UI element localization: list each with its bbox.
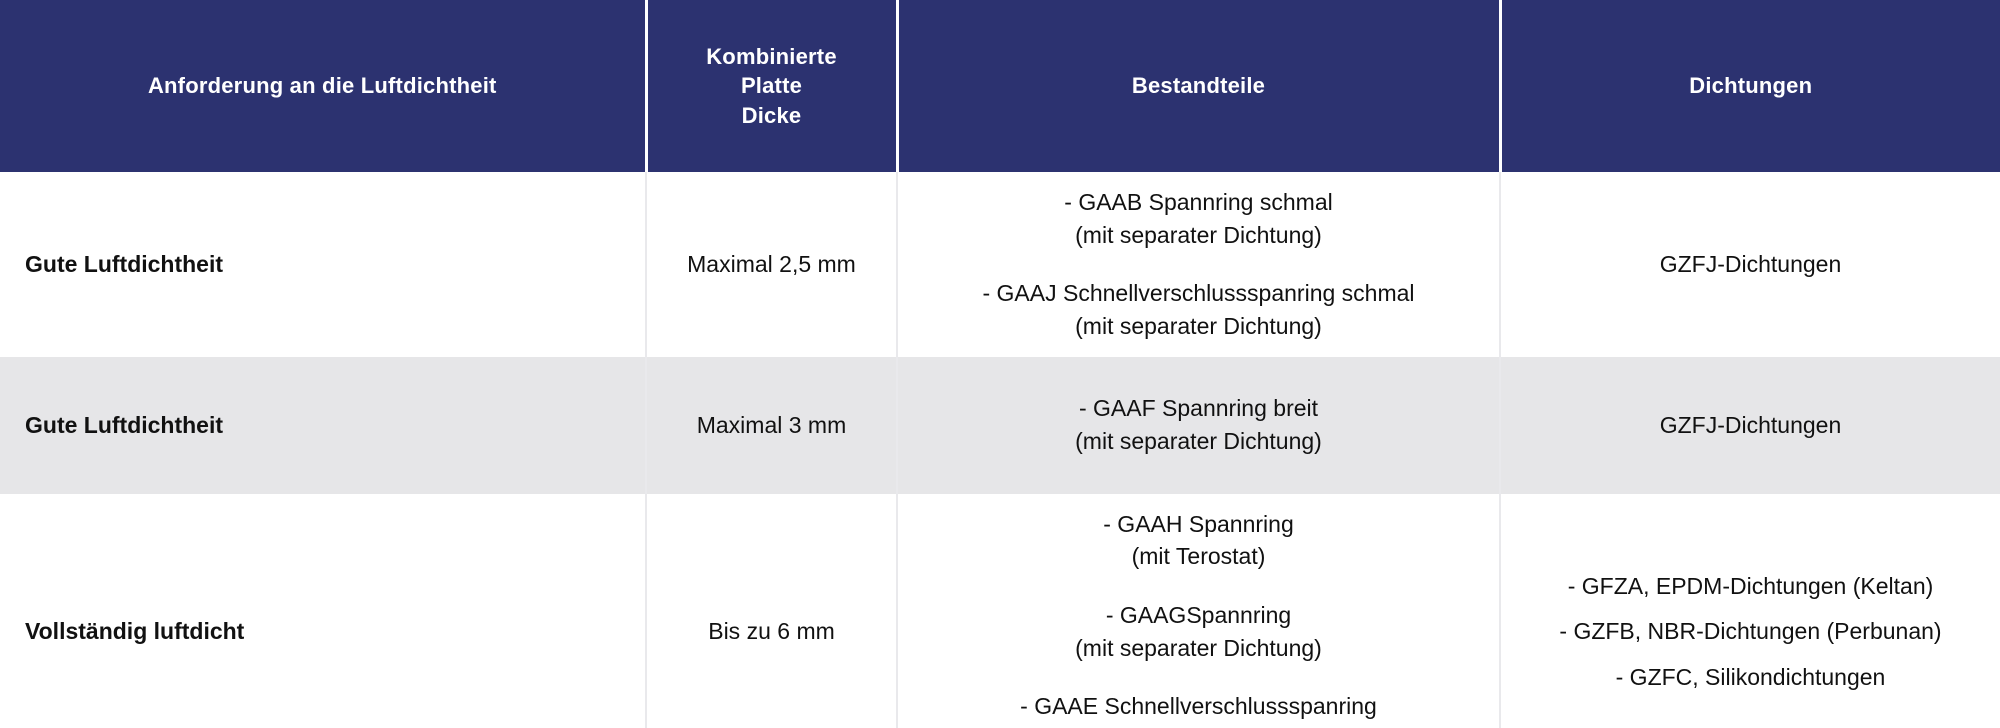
column-header-anforderung-label: Anforderung an die Luftdichtheit [148, 73, 497, 98]
table-row: Gute Luftdichtheit Maximal 2,5 mm - GAAB… [0, 172, 2000, 357]
airtightness-spec-table: Anforderung an die Luftdichtheit Kombini… [0, 0, 2000, 728]
dichtungen-item-line1: GZFJ-Dichtungen [1517, 409, 1984, 442]
dicke-value: Maximal 2,5 mm [687, 251, 856, 277]
column-header-dicke-line1: Kombinierte [662, 42, 882, 71]
cell-anforderung: Vollständig luftdicht [0, 494, 646, 728]
header-row: Anforderung an die Luftdichtheit Kombini… [0, 0, 2000, 172]
cell-dicke: Maximal 3 mm [646, 357, 897, 494]
anforderung-value: Gute Luftdichtheit [25, 412, 223, 438]
anforderung-value: Gute Luftdichtheit [25, 251, 223, 277]
table-header: Anforderung an die Luftdichtheit Kombini… [0, 0, 2000, 172]
column-header-dichtungen-label: Dichtungen [1689, 73, 1812, 98]
column-header-dicke: Kombinierte Platte Dicke [646, 0, 897, 172]
bestandteile-item: - GAAGSpannring (mit separater Dichtung) [914, 599, 1483, 664]
bestandteile-item-line1: - GAAF Spannring breit [914, 392, 1483, 425]
cell-bestandteile: - GAAF Spannring breit (mit separater Di… [897, 357, 1500, 494]
table-row: Vollständig luftdicht Bis zu 6 mm - GAAH… [0, 494, 2000, 728]
column-header-bestandteile: Bestandteile [897, 0, 1500, 172]
column-header-dicke-line2: Platte [662, 71, 882, 100]
bestandteile-item-line2: (mit separater Dichtung) [914, 425, 1483, 458]
spec-table: Anforderung an die Luftdichtheit Kombini… [0, 0, 2000, 728]
bestandteile-item-line1: - GAAE Schnellverschlussspanring [914, 690, 1483, 723]
bestandteile-item-line2: (mit Terostat) [914, 540, 1483, 573]
bestandteile-item-line2: (mit separater Dichtung) [914, 310, 1483, 343]
cell-dichtungen: GZFJ-Dichtungen [1500, 172, 2000, 357]
bestandteile-item-line2: (mit separater Dichtung) [914, 723, 1483, 728]
dichtungen-item: GZFJ-Dichtungen [1517, 248, 1984, 281]
dichtungen-item: - GZFC, Silikondichtungen [1517, 661, 1984, 694]
table-body: Gute Luftdichtheit Maximal 2,5 mm - GAAB… [0, 172, 2000, 728]
cell-dichtungen: - GFZA, EPDM-Dichtungen (Keltan) - GZFB,… [1500, 494, 2000, 728]
dichtungen-item-line1: - GZFB, NBR-Dichtungen (Perbunan) [1517, 615, 1984, 648]
bestandteile-item: - GAAE Schnellverschlussspanring (mit se… [914, 690, 1483, 728]
table-row: Gute Luftdichtheit Maximal 3 mm - GAAF S… [0, 357, 2000, 494]
column-header-dichtungen: Dichtungen [1500, 0, 2000, 172]
column-header-anforderung: Anforderung an die Luftdichtheit [0, 0, 646, 172]
column-header-dicke-line3: Dicke [662, 101, 882, 130]
bestandteile-item-line1: - GAAJ Schnellverschlussspanring schmal [914, 277, 1483, 310]
bestandteile-item-line1: - GAAGSpannring [914, 599, 1483, 632]
dichtungen-item-line1: GZFJ-Dichtungen [1517, 248, 1984, 281]
bestandteile-item: - GAAJ Schnellverschlussspanring schmal … [914, 277, 1483, 342]
anforderung-value: Vollständig luftdicht [25, 618, 244, 644]
cell-dicke: Maximal 2,5 mm [646, 172, 897, 357]
dichtungen-item: GZFJ-Dichtungen [1517, 409, 1984, 442]
dicke-value: Bis zu 6 mm [708, 618, 835, 644]
bestandteile-item-line1: - GAAH Spannring [914, 508, 1483, 541]
bestandteile-item-line1: - GAAB Spannring schmal [914, 186, 1483, 219]
dicke-value: Maximal 3 mm [697, 412, 847, 438]
bestandteile-item-line2: (mit separater Dichtung) [914, 632, 1483, 665]
cell-bestandteile: - GAAB Spannring schmal (mit separater D… [897, 172, 1500, 357]
dichtungen-item-line1: - GZFC, Silikondichtungen [1517, 661, 1984, 694]
bestandteile-item: - GAAH Spannring (mit Terostat) [914, 508, 1483, 573]
cell-dichtungen: GZFJ-Dichtungen [1500, 357, 2000, 494]
cell-anforderung: Gute Luftdichtheit [0, 172, 646, 357]
bestandteile-item: - GAAF Spannring breit (mit separater Di… [914, 392, 1483, 457]
bestandteile-item: - GAAB Spannring schmal (mit separater D… [914, 186, 1483, 251]
cell-bestandteile: - GAAH Spannring (mit Terostat) - GAAGSp… [897, 494, 1500, 728]
cell-dicke: Bis zu 6 mm [646, 494, 897, 728]
cell-anforderung: Gute Luftdichtheit [0, 357, 646, 494]
bestandteile-item-line2: (mit separater Dichtung) [914, 219, 1483, 252]
dichtungen-item-line1: - GFZA, EPDM-Dichtungen (Keltan) [1517, 570, 1984, 603]
dichtungen-item: - GZFB, NBR-Dichtungen (Perbunan) [1517, 615, 1984, 648]
dichtungen-item: - GFZA, EPDM-Dichtungen (Keltan) [1517, 570, 1984, 603]
column-header-bestandteile-label: Bestandteile [1132, 73, 1265, 98]
